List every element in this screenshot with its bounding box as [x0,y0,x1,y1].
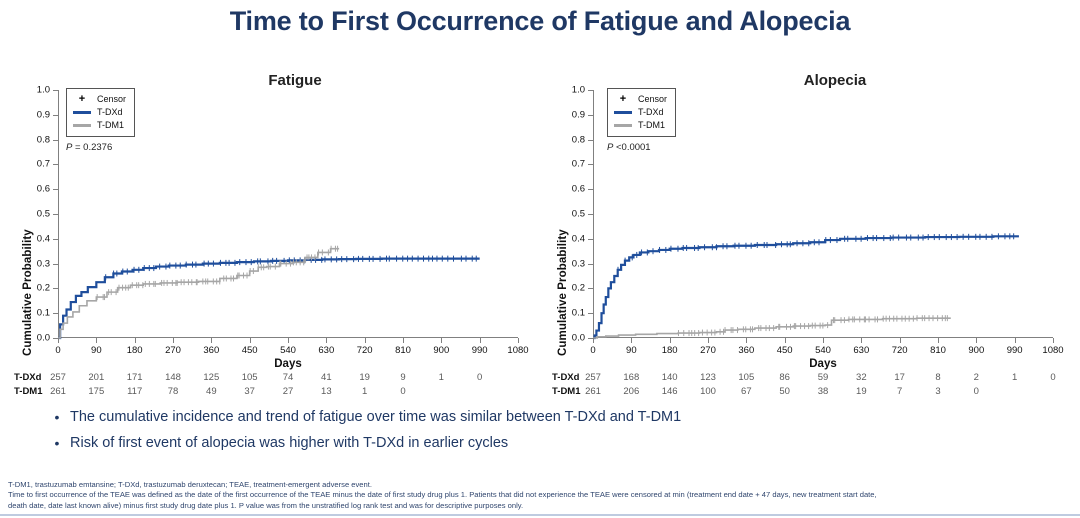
y-tick [53,214,58,215]
x-tick [631,338,632,343]
risk-cell: 17 [894,372,905,383]
risk-row-label: T-DXd [552,372,579,383]
y-tick [588,115,593,116]
bullet-list: • The cumulative incidence and trend of … [44,408,1044,460]
x-tick-label: 360 [738,345,754,356]
x-tick-label: 720 [357,345,373,356]
y-tick-label: 0.9 [37,109,50,120]
list-item: • The cumulative incidence and trend of … [44,408,1044,427]
risk-cell: 37 [244,386,255,397]
risk-cell: 74 [283,372,294,383]
y-axis-title-fatigue: Cumulative Probability [22,229,34,356]
x-tick [823,338,824,343]
risk-cell: 8 [935,372,940,383]
legend-swatch-gray-icon [72,124,92,127]
legend-label-tdm1: T-DM1 [638,120,665,130]
y-tick-label: 1.0 [37,85,50,96]
footer-rule [0,514,1080,516]
y-tick [588,214,593,215]
page-title: Time to First Occurrence of Fatigue and … [0,6,1080,37]
x-tick-label: 810 [395,345,411,356]
risk-cell: 168 [623,372,639,383]
y-tick [588,189,593,190]
y-tick [53,90,58,91]
x-tick [746,338,747,343]
x-tick [211,338,212,343]
legend-fatigue: + Censor T-DXd T-DM1 [66,88,135,137]
y-tick [53,264,58,265]
chart-panel-alopecia: Alopecia Cumulative Probability Days 0.0… [545,66,1075,366]
censor-plus-icon: + [613,95,633,104]
x-tick [135,338,136,343]
p-value-fatigue: P = 0.2376 [66,142,112,153]
y-tick [588,313,593,314]
risk-cell: 123 [700,372,716,383]
y-tick [53,140,58,141]
risk-cell: 140 [662,372,678,383]
y-tick-label: 0.6 [572,184,585,195]
risk-row-label: T-DM1 [14,386,43,397]
x-tick [58,338,59,343]
km-curve-t-dxd [593,236,1019,338]
y-tick-label: 0.0 [572,333,585,344]
km-curve-t-dxd [58,259,480,338]
chart-panel-fatigue: Fatigue Cumulative Probability Days 0.00… [10,66,540,366]
risk-cell: 32 [856,372,867,383]
censor-plus-icon: + [72,95,92,104]
x-axis-title-fatigue: Days [58,358,518,370]
y-tick-label: 0.1 [572,308,585,319]
legend-label-tdm1: T-DM1 [97,120,124,130]
risk-cell: 7 [897,386,902,397]
table-row: T-DXd257201171148125105744119910 [14,372,534,386]
x-tick-label: 0 [55,345,60,356]
risk-cell: 0 [1050,372,1055,383]
y-tick-label: 0.4 [572,233,585,244]
risk-cell: 100 [700,386,716,397]
legend-item-tdm1: T-DM1 [72,119,126,131]
bullet-dot-icon: • [44,434,70,453]
risk-cell: 105 [242,372,258,383]
risk-cell: 2 [974,372,979,383]
risk-cell: 1 [362,386,367,397]
legend-label-tdxd: T-DXd [97,107,123,117]
risk-cell: 38 [818,386,829,397]
x-tick-label: 1080 [1042,345,1063,356]
risk-table-fatigue: T-DXd257201171148125105744119910T-DM1261… [14,372,534,402]
footnote-line: T-DM1, trastuzumab emtansine; T-DXd, tra… [8,480,1073,490]
risk-cell: 78 [168,386,179,397]
risk-cell: 86 [779,372,790,383]
risk-cell: 1 [439,372,444,383]
x-tick-label: 90 [626,345,637,356]
x-tick [365,338,366,343]
x-tick-label: 540 [280,345,296,356]
legend-item-tdm1: T-DM1 [613,119,667,131]
x-tick-label: 720 [892,345,908,356]
risk-cell: 261 [585,386,601,397]
risk-cell: 146 [662,386,678,397]
y-tick-label: 0.8 [37,134,50,145]
x-tick [861,338,862,343]
table-row: T-DM1261175117784937271310 [14,386,534,400]
legend-item-tdxd: T-DXd [72,106,126,118]
risk-row-label: T-DXd [14,372,41,383]
x-tick-label: 270 [165,345,181,356]
risk-cell: 0 [477,372,482,383]
x-tick [326,338,327,343]
y-tick [588,90,593,91]
x-tick [708,338,709,343]
legend-swatch-blue-icon [613,111,633,114]
x-tick [480,338,481,343]
y-tick-label: 0.3 [572,258,585,269]
table-row: T-DXd257168140123105865932178210 [552,372,1072,386]
risk-cell: 19 [856,386,867,397]
y-tick-label: 0.5 [572,209,585,220]
p-value-alopecia: P <0.0001 [607,142,651,153]
y-tick [53,115,58,116]
x-tick [593,338,594,343]
x-tick-label: 180 [662,345,678,356]
legend-swatch-gray-icon [613,124,633,127]
y-tick-label: 0.9 [572,109,585,120]
y-tick [53,288,58,289]
x-tick-label: 1080 [507,345,528,356]
x-tick [173,338,174,343]
x-tick-label: 990 [1007,345,1023,356]
y-tick [53,164,58,165]
risk-table-alopecia: T-DXd257168140123105865932178210T-DM1261… [552,372,1072,402]
x-tick [441,338,442,343]
y-tick-label: 0.5 [37,209,50,220]
risk-cell: 9 [400,372,405,383]
y-tick-label: 1.0 [572,85,585,96]
risk-row-label: T-DM1 [552,386,581,397]
y-tick [588,140,593,141]
y-tick-label: 0.4 [37,233,50,244]
legend-item-censor: + Censor [72,93,126,105]
risk-cell: 49 [206,386,217,397]
y-axis-title-alopecia: Cumulative Probability [557,229,569,356]
footnote: T-DM1, trastuzumab emtansine; T-DXd, tra… [8,480,1073,511]
legend-swatch-blue-icon [72,111,92,114]
risk-cell: 0 [974,386,979,397]
risk-cell: 117 [127,386,142,397]
risk-cell: 257 [50,372,66,383]
x-tick-label: 990 [472,345,488,356]
y-tick-label: 0.2 [572,283,585,294]
y-tick [588,239,593,240]
legend-label-censor: Censor [97,94,126,104]
y-tick-label: 0.8 [572,134,585,145]
x-tick-label: 900 [968,345,984,356]
legend-label-tdxd: T-DXd [638,107,664,117]
x-tick [900,338,901,343]
x-tick-label: 270 [700,345,716,356]
x-tick [403,338,404,343]
table-row: T-DM126120614610067503819730 [552,386,1072,400]
y-tick-label: 0.2 [37,283,50,294]
x-tick-label: 90 [91,345,102,356]
x-axis-title-alopecia: Days [593,358,1053,370]
y-tick [588,164,593,165]
bullet-dot-icon: • [44,408,70,427]
y-tick-label: 0.3 [37,258,50,269]
y-tick-label: 0.7 [572,159,585,170]
list-item: • Risk of first event of alopecia was hi… [44,434,1044,453]
x-tick [250,338,251,343]
risk-cell: 261 [50,386,66,397]
bullet-text: The cumulative incidence and trend of fa… [70,408,681,427]
risk-cell: 50 [779,386,790,397]
x-tick-label: 450 [242,345,258,356]
legend-item-tdxd: T-DXd [613,106,667,118]
risk-cell: 175 [88,386,104,397]
panel-title-fatigue: Fatigue [10,72,540,89]
legend-label-censor: Censor [638,94,667,104]
x-tick-label: 450 [777,345,793,356]
y-tick-label: 0.1 [37,308,50,319]
y-tick [588,288,593,289]
x-tick [1053,338,1054,343]
risk-cell: 0 [400,386,405,397]
y-tick-label: 0.6 [37,184,50,195]
x-tick-label: 360 [203,345,219,356]
risk-cell: 125 [203,372,219,383]
legend-alopecia: + Censor T-DXd T-DM1 [607,88,676,137]
x-tick [288,338,289,343]
risk-cell: 13 [321,386,332,397]
footnote-line: death date, date last known alive) minus… [8,501,1073,511]
slide-root: Time to First Occurrence of Fatigue and … [0,0,1080,518]
x-tick [785,338,786,343]
risk-cell: 67 [741,386,752,397]
y-tick [53,313,58,314]
y-tick [588,264,593,265]
risk-cell: 257 [585,372,601,383]
risk-cell: 3 [935,386,940,397]
x-tick-label: 180 [127,345,143,356]
censor-marks-t-dm1 [97,246,337,300]
risk-cell: 19 [359,372,370,383]
censor-marks-t-dxd [618,233,1014,272]
x-tick [96,338,97,343]
x-tick [976,338,977,343]
risk-cell: 171 [127,372,143,383]
risk-cell: 59 [818,372,829,383]
x-tick [938,338,939,343]
footnote-line: Time to first occurrence of the TEAE was… [8,490,1073,500]
x-tick [518,338,519,343]
legend-item-censor: + Censor [613,93,667,105]
y-tick [53,189,58,190]
bullet-text: Risk of first event of alopecia was high… [70,434,508,453]
x-tick-label: 0 [590,345,595,356]
risk-cell: 105 [738,372,754,383]
y-tick-label: 0.7 [37,159,50,170]
x-tick-label: 810 [930,345,946,356]
risk-cell: 206 [623,386,639,397]
x-tick [1015,338,1016,343]
x-tick [670,338,671,343]
y-tick-label: 0.0 [37,333,50,344]
x-tick-label: 630 [318,345,334,356]
x-tick-label: 630 [853,345,869,356]
risk-cell: 41 [321,372,332,383]
y-tick [53,239,58,240]
x-tick-label: 900 [433,345,449,356]
risk-cell: 148 [165,372,181,383]
risk-cell: 1 [1012,372,1017,383]
km-curve-t-dm1 [58,249,339,338]
risk-cell: 27 [283,386,294,397]
risk-cell: 201 [88,372,104,383]
panel-title-alopecia: Alopecia [545,72,1075,89]
x-tick-label: 540 [815,345,831,356]
